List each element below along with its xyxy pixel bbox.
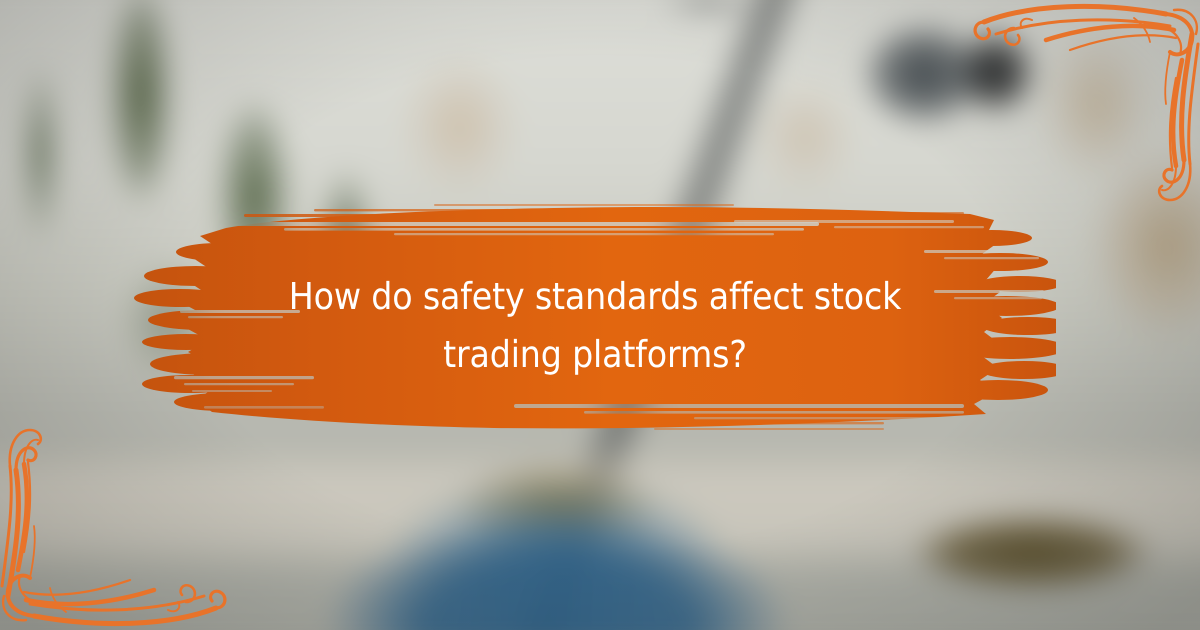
flourish-vine-icon	[970, 0, 1200, 215]
share-card-canvas: How do safety standards affect stock tra…	[0, 0, 1200, 630]
corner-flourish-bottom-left-icon	[0, 415, 230, 630]
corner-flourish-top-right-icon	[970, 0, 1200, 215]
flourish-vine-icon	[0, 415, 230, 630]
headline-text: How do safety standards affect stock tra…	[231, 268, 960, 384]
